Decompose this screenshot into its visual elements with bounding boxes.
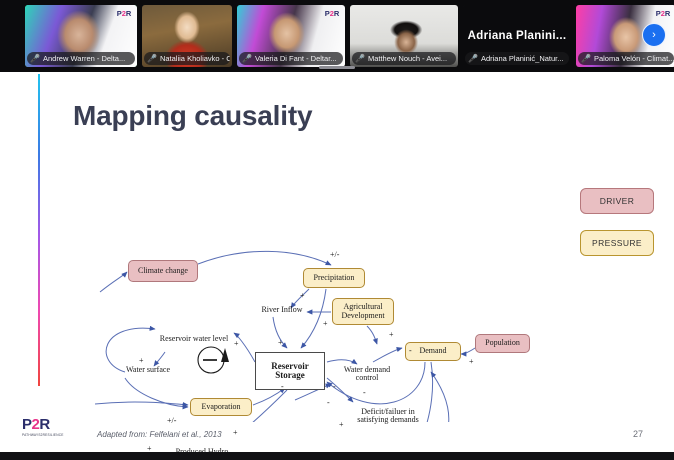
p2r-watermark-icon: P2R [321,8,343,20]
p2r-watermark-icon: P2R [113,8,135,20]
slide-page-number: 27 [633,429,643,439]
node-label: Climate change [138,267,188,275]
microphone-icon: 🎤 [355,55,365,63]
edge-sign: + [469,357,474,366]
node-label: Water surface [126,366,170,374]
participant-tile[interactable]: 🎤 Matthew Nouch - Avei... [350,5,458,67]
next-page-arrow-icon[interactable]: › [642,23,666,47]
logo-letter-p: P [22,416,32,433]
participant-name-badge: 🎤 Paloma Velón - Climat... [578,52,674,65]
node-deficit-failure: Deficit/failuer in satisfying demands [345,404,431,428]
edge-sign: - [281,382,284,391]
microphone-icon: 🎤 [468,55,478,63]
participant-name-badge: 🎤 Nataliia Kholiavko - Ch... [144,52,230,65]
participant-name: Matthew Nouch - Avei... [368,54,447,63]
edge-sign: +/- [167,416,176,425]
edge-sign: + [300,291,305,300]
video-filmstrip: P2R 🎤 Andrew Warren - Delta... 🎤 Natalii… [0,0,674,72]
page-title: Mapping causality [73,100,312,132]
edge-sign: - [363,388,366,397]
edge-sign: - [333,382,336,391]
participant-tile[interactable]: 🎤 Nataliia Kholiavko - Ch... [142,5,232,67]
bottom-toolbar [0,452,674,460]
participant-name: Paloma Velón - Climat... [594,54,674,63]
edge-sign: + [233,428,238,437]
causal-loop-diagram: Climate change Population Precipitation … [95,172,565,422]
edge-sign: + [147,444,152,452]
filmstrip-drag-handle[interactable] [319,66,355,69]
edge-sign: + [389,330,394,339]
source-attribution: Adapted from: Felfelani et al., 2013 [97,430,222,439]
node-label: Water demand control [335,366,399,383]
edge-sign: - [327,398,330,407]
node-label: Reservoir Storage [256,362,324,381]
participant-name-badge: 🎤 Andrew Warren - Delta... [27,52,135,65]
legend-driver: DRIVER [580,188,654,214]
node-label: Evaporation [201,403,240,411]
p2r-logo: P2R PATHWAYS2RESILIENCE [22,417,74,443]
node-reservoir-water-level: Reservoir water level [157,327,231,351]
participant-tile-row: P2R 🎤 Andrew Warren - Delta... 🎤 Natalii… [25,5,674,67]
legend-pressure: PRESSURE [580,230,654,256]
logo-letter-r: R [39,416,49,433]
chevron-right-icon: › [652,29,656,41]
edge-sign: +/- [330,250,339,259]
participant-name-badge: 🎤 Matthew Nouch - Avei... [352,52,456,65]
gradient-accent-line [38,74,40,386]
edge-sign: + [234,339,239,348]
edge-sign: + [278,338,283,347]
participant-tile[interactable]: Adriana Planini... 🎤 Adriana Planinić_Na… [463,5,571,67]
node-label: Population [485,339,520,347]
edge-sign: + [139,356,144,365]
participant-name-badge: 🎤 Adriana Planinić_Natur... [465,52,569,65]
diagram-arrows [95,172,565,422]
edge-sign: - [409,346,412,355]
node-precipitation[interactable]: Precipitation [303,268,365,288]
edge-sign: + [339,420,344,429]
node-river-inflow: River Inflow [253,304,311,316]
p2r-watermark-icon: P2R [652,8,674,20]
participant-name: Adriana Planinić_Natur... [481,54,564,63]
node-label: River Inflow [261,306,302,314]
microphone-icon: 🎤 [30,55,40,63]
microphone-icon: 🎤 [147,55,157,63]
legend-driver-label: DRIVER [600,196,635,206]
node-label: Demand [419,347,446,355]
node-label: Deficit/failuer in satisfying demands [345,408,431,425]
microphone-icon: 🎤 [581,55,591,63]
microphone-icon: 🎤 [242,55,252,63]
node-agricultural-development[interactable]: Agricultural Development [332,298,394,325]
node-population[interactable]: Population [475,334,530,353]
legend-pressure-label: PRESSURE [592,238,642,248]
node-reservoir-storage[interactable]: Reservoir Storage [255,352,325,390]
p2r-logo-mark: P2R [22,417,74,432]
node-produced-hydro-electric-energy: Produced Hydro Electric Energy [163,444,241,452]
participant-name: Valeria Di Fant - Deltar... [255,54,337,63]
node-label: Precipitation [314,274,355,282]
node-climate-change[interactable]: Climate change [128,260,198,282]
node-water-surface: Water surface [117,364,179,376]
edge-sign: + [323,319,328,328]
participant-tile[interactable]: P2R 🎤 Andrew Warren - Delta... [25,5,137,67]
node-water-demand-control: Water demand control [335,362,399,386]
node-label: Reservoir water level [160,335,228,343]
node-demand[interactable]: Demand [405,342,461,361]
participant-name: Andrew Warren - Delta... [43,54,125,63]
node-evaporation[interactable]: Evaporation [190,398,252,416]
participant-tile[interactable]: P2R 🎤 Valeria Di Fant - Deltar... [237,5,345,67]
participant-name: Nataliia Kholiavko - Ch... [160,54,230,63]
presentation-slide: Mapping causality DRIVER PRESSURE [0,72,674,452]
node-label: Agricultural Development [333,303,393,320]
participant-name-badge: 🎤 Valeria Di Fant - Deltar... [239,52,343,65]
p2r-logo-subtitle: PATHWAYS2RESILIENCE [22,433,74,437]
